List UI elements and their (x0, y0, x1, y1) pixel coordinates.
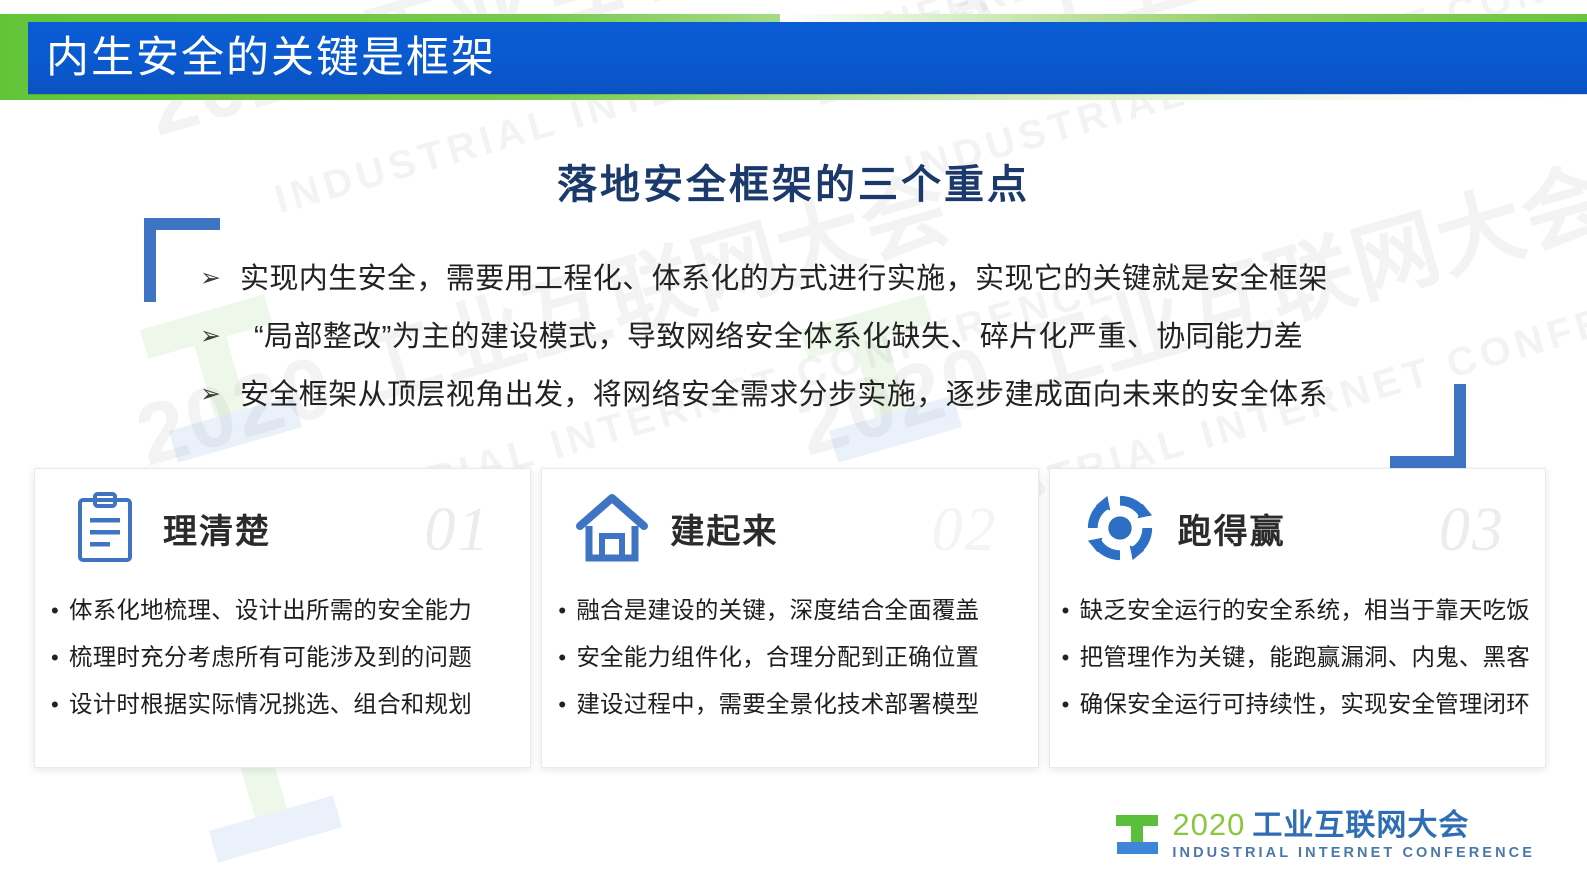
card-title: 跑得赢 (1178, 504, 1286, 553)
focus-cards-row: 理清楚 01 • 体系化地梳理、设计出所需的安全能力 • 梳理时充分考虑所有可能… (34, 468, 1546, 768)
list-item-label: 梳理时充分考虑所有可能涉及到的问题 (69, 634, 512, 681)
dot-bullet-icon: • (558, 681, 576, 728)
dot-bullet-icon: • (1062, 587, 1080, 634)
logo-text-block: 2020 工业互联网大会 INDUSTRIAL INTERNET CONFERE… (1172, 808, 1535, 862)
section-heading: 落地安全框架的三个重点 (0, 152, 1587, 210)
list-item: • 融合是建设的关键，深度结合全面覆盖 (558, 587, 1019, 634)
logo-title-cn: 工业互联网大会 (1252, 809, 1469, 843)
list-item: • 梳理时充分考虑所有可能涉及到的问题 (51, 634, 512, 681)
list-item: ➢ 安全框架从顶层视角出发，将网络安全需求分步实施，逐步建成面向未来的安全体系 (200, 374, 1420, 416)
list-item-label: 实现内生安全，需要用工程化、体系化的方式进行实施，实现它的关键就是安全框架 (240, 258, 1420, 300)
list-item: • 建设过程中，需要全景化技术部署模型 (558, 681, 1019, 728)
card-body: • 融合是建设的关键，深度结合全面覆盖 • 安全能力组件化，合理分配到正确位置 … (542, 587, 1037, 728)
list-item-label: 设计时根据实际情况挑选、组合和规划 (69, 681, 512, 728)
card-header: 建起来 02 (542, 469, 1037, 587)
list-item: • 把管理作为关键，能跑赢漏洞、内鬼、黑客 (1062, 634, 1527, 681)
logo-title-en: INDUSTRIAL INTERNET CONFERENCE (1172, 844, 1535, 862)
card-jian-qi-lai[interactable]: 建起来 02 • 融合是建设的关键，深度结合全面覆盖 • 安全能力组件化，合理分… (541, 468, 1038, 768)
card-body: • 缺乏安全运行的安全系统，相当于靠天吃饭 • 把管理作为关键，能跑赢漏洞、内鬼… (1050, 587, 1545, 728)
list-item: • 缺乏安全运行的安全系统，相当于靠天吃饭 (1062, 587, 1527, 634)
cycle-arrows-icon (1084, 490, 1156, 566)
conference-logo: 2020 工业互联网大会 INDUSTRIAL INTERNET CONFERE… (1116, 808, 1535, 862)
card-li-qing-chu[interactable]: 理清楚 01 • 体系化地梳理、设计出所需的安全能力 • 梳理时充分考虑所有可能… (34, 468, 531, 768)
list-item-label: “局部整改”为主的建设模式，导致网络安全体系化缺失、碎片化严重、协同能力差 (240, 316, 1420, 358)
dot-bullet-icon: • (51, 634, 69, 681)
arrow-bullet-icon: ➢ (200, 316, 240, 356)
list-item: • 设计时根据实际情况挑选、组合和规划 (51, 681, 512, 728)
card-title: 理清楚 (163, 504, 271, 553)
arrow-bullet-icon: ➢ (200, 374, 240, 414)
list-item-label: 把管理作为关键，能跑赢漏洞、内鬼、黑客 (1080, 634, 1530, 681)
list-item: • 安全能力组件化，合理分配到正确位置 (558, 634, 1019, 681)
list-item-label: 安全能力组件化，合理分配到正确位置 (576, 634, 1019, 681)
dot-bullet-icon: • (558, 634, 576, 681)
list-item-label: 安全框架从顶层视角出发，将网络安全需求分步实施，逐步建成面向未来的安全体系 (240, 374, 1420, 416)
card-number-badge: 02 (932, 495, 998, 566)
list-item-label: 确保安全运行可持续性，实现安全管理闭环 (1080, 681, 1530, 728)
dot-bullet-icon: • (558, 587, 576, 634)
list-item-label: 融合是建设的关键，深度结合全面覆盖 (576, 587, 1019, 634)
card-title: 建起来 (670, 504, 778, 553)
dot-bullet-icon: • (51, 587, 69, 634)
list-item: • 确保安全运行可持续性，实现安全管理闭环 (1062, 681, 1527, 728)
list-item: • 体系化地梳理、设计出所需的安全能力 (51, 587, 512, 634)
dot-bullet-icon: • (1062, 681, 1080, 728)
list-item-label: 体系化地梳理、设计出所需的安全能力 (69, 587, 512, 634)
arrow-bullet-icon: ➢ (200, 258, 240, 298)
list-item: ➢ “局部整改”为主的建设模式，导致网络安全体系化缺失、碎片化严重、协同能力差 (200, 316, 1420, 358)
card-body: • 体系化地梳理、设计出所需的安全能力 • 梳理时充分考虑所有可能涉及到的问题 … (35, 587, 530, 728)
list-item-label: 缺乏安全运行的安全系统，相当于靠天吃饭 (1080, 587, 1530, 634)
dot-bullet-icon: • (1062, 634, 1080, 681)
slide: 2020 工业互联网大会 INDUSTRIAL INTERNET CONFERE… (0, 0, 1587, 892)
ibeam-logo-icon (1116, 813, 1160, 857)
dot-bullet-icon: • (51, 681, 69, 728)
card-header: 理清楚 01 (35, 469, 530, 587)
card-number-badge: 01 (424, 495, 490, 566)
clipboard-icon (69, 490, 141, 566)
slide-title: 内生安全的关键是框架 (46, 24, 496, 94)
list-item-label: 建设过程中，需要全景化技术部署模型 (576, 681, 1019, 728)
card-pao-de-ying[interactable]: 跑得赢 03 • 缺乏安全运行的安全系统，相当于靠天吃饭 • 把管理作为关键，能… (1049, 468, 1546, 768)
list-item: ➢ 实现内生安全，需要用工程化、体系化的方式进行实施，实现它的关键就是安全框架 (200, 258, 1420, 300)
house-icon (576, 490, 648, 566)
key-points-list: ➢ 实现内生安全，需要用工程化、体系化的方式进行实施，实现它的关键就是安全框架 … (200, 258, 1420, 432)
card-number-badge: 03 (1439, 495, 1505, 566)
logo-year: 2020 (1172, 808, 1245, 842)
logo-primary-line: 2020 工业互联网大会 (1172, 808, 1535, 843)
card-header: 跑得赢 03 (1050, 469, 1545, 587)
